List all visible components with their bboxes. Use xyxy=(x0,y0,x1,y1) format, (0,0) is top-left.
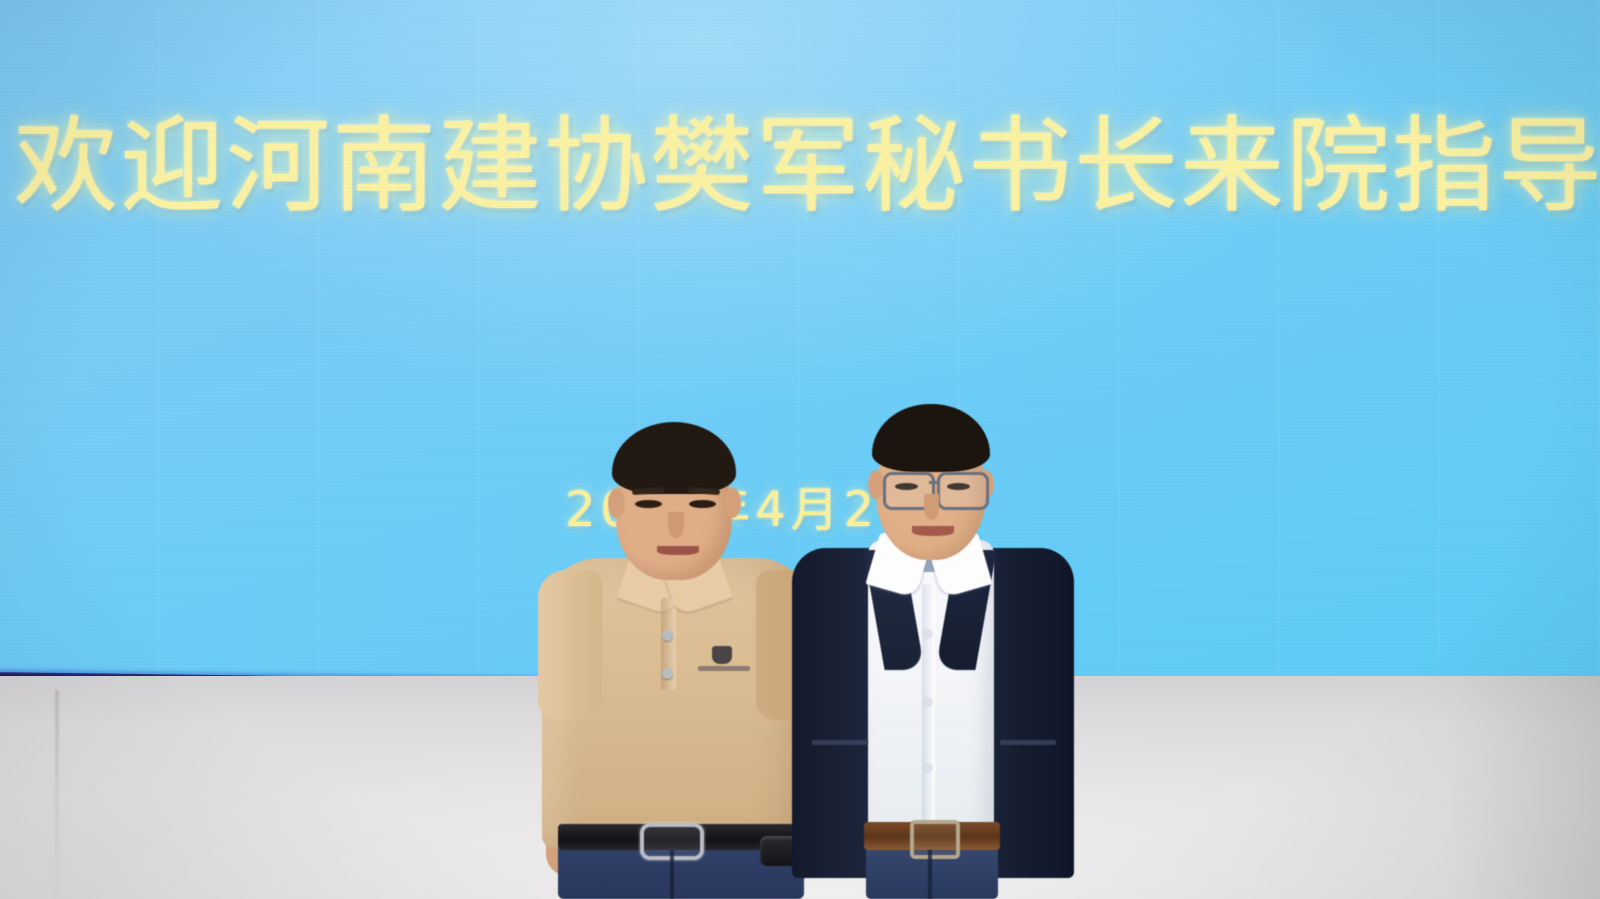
right-person-jeans-seam xyxy=(928,850,932,899)
wall-shadow xyxy=(1450,676,1600,899)
person-right xyxy=(788,398,1078,899)
photograph: 欢迎河南建协樊军秘书长来院指导工作 202?年4月2?日 xyxy=(0,0,1600,899)
right-person-jacket-pocket xyxy=(812,740,868,745)
right-person-shirt-button xyxy=(924,698,932,706)
right-person-ear xyxy=(868,470,884,499)
right-person-shirt-button xyxy=(924,764,932,772)
left-person-left-sleeve xyxy=(538,570,602,720)
right-person-mouth xyxy=(912,526,954,536)
eyeglasses-right-lens xyxy=(937,472,989,510)
left-person-shirt-button xyxy=(662,630,673,641)
wall-panel-seam xyxy=(55,690,59,899)
left-person-jeans-seam xyxy=(670,850,674,899)
person-left xyxy=(528,420,828,899)
left-person-ear xyxy=(724,488,741,518)
right-person-belt-buckle xyxy=(910,820,960,859)
left-person-nose xyxy=(668,512,684,538)
left-person-chest-logo-text xyxy=(698,666,750,671)
left-person-eye xyxy=(635,500,662,508)
right-person-shirt-placket xyxy=(922,584,935,834)
left-person-ear xyxy=(608,488,625,518)
left-person-mouth xyxy=(657,546,699,555)
banner-title-text: 欢迎河南建协樊军秘书长来院指导工作 xyxy=(14,108,1594,224)
left-person-chest-logo xyxy=(712,646,732,664)
eyeglasses-bridge xyxy=(929,481,939,484)
right-person-jacket-pocket xyxy=(1000,740,1056,745)
right-person-hair xyxy=(872,404,990,472)
right-person-shirt-button xyxy=(924,630,932,638)
left-person-hair xyxy=(612,422,736,494)
left-person-shirt-button xyxy=(662,668,673,679)
left-person-eye xyxy=(689,500,716,508)
right-person-nose xyxy=(924,494,939,520)
